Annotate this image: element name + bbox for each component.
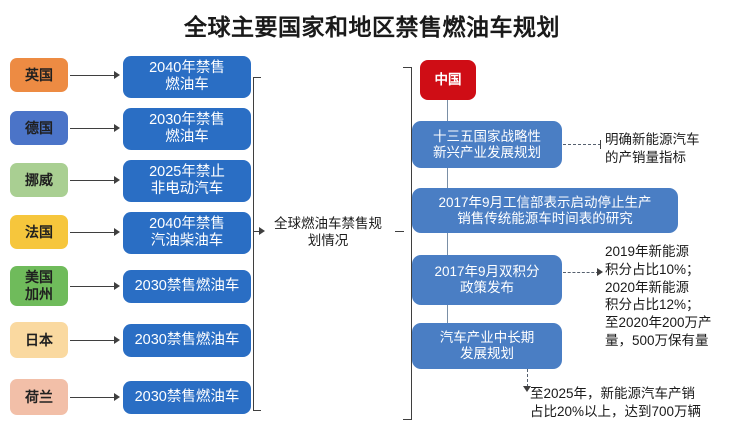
stem-policy2-to-policy3 [447,233,448,255]
dotted-connector-2-arrow [597,268,603,276]
arrow-head-germany [114,124,120,132]
plan-box-us-california[interactable]: 2030禁售燃油车 [123,270,251,303]
right-branch-bracket [403,67,412,420]
arrow-line-germany [70,128,116,129]
plan-box-netherlands[interactable]: 2030禁售燃油车 [123,381,251,414]
country-box-uk[interactable]: 英国 [10,58,68,92]
arrow-head-us-california [114,282,120,290]
country-box-france[interactable]: 法国 [10,215,68,249]
arrow-line-japan [70,340,116,341]
arrow-line-france [70,232,116,233]
arrow-line-us-california [70,286,116,287]
arrow-head-norway [114,176,120,184]
annotation-2: 2019年新能源 积分占比10%； 2020年新能源 积分占比12%； 至202… [605,243,744,350]
page-title: 全球主要国家和地区禁售燃油车规划 [0,8,744,42]
plan-box-uk[interactable]: 2040年禁售 燃油车 [123,56,251,98]
center-label: 全球燃油车禁售规 划情况 [263,216,393,250]
dotted-connector-2 [563,272,599,273]
arrow-head-netherlands [114,393,120,401]
arrow-line-uk [70,75,116,76]
policy-box-1[interactable]: 十三五国家战略性 新兴产业发展规划 [412,121,562,168]
annotation-3: 至2025年，新能源汽车产销 占比20%以上，达到700万辆 [530,385,744,421]
plan-box-germany[interactable]: 2030年禁售 燃油车 [123,108,251,150]
plan-box-norway[interactable]: 2025年禁止 非电动汽车 [123,160,251,202]
policy-box-3[interactable]: 2017年9月双积分 政策发布 [412,255,562,305]
arrow-head-france [114,228,120,236]
policy-box-4[interactable]: 汽车产业中长期 发展规划 [412,323,562,369]
country-box-us-california[interactable]: 美国 加州 [10,266,68,306]
dotted-connector-3 [527,369,528,387]
stem-china-to-policy1 [447,100,448,121]
country-box-netherlands[interactable]: 荷兰 [10,379,68,415]
arrow-line-norway [70,180,116,181]
stem-policy1-to-policy2 [447,168,448,188]
left-branch-bracket [253,77,261,411]
annotation-1: 明确新能源汽车 的产销量指标 [605,131,744,167]
stem-policy3-to-policy4 [447,305,448,323]
plan-box-france[interactable]: 2040年禁售 汽油柴油车 [123,212,251,254]
country-box-japan[interactable]: 日本 [10,322,68,358]
infographic-canvas: 全球主要国家和地区禁售燃油车规划 英国 德国 挪威 法国 美国 加州 日本 荷兰… [0,0,744,435]
country-box-germany[interactable]: 德国 [10,111,68,145]
arrow-line-netherlands [70,397,116,398]
country-box-china[interactable]: 中国 [420,60,476,100]
arrow-head-japan [114,336,120,344]
dotted-connector-1 [563,144,601,145]
plan-box-japan[interactable]: 2030禁售燃油车 [123,324,251,357]
dotted-connector-1-cap [600,140,601,149]
arrow-head-uk [114,71,120,79]
country-box-norway[interactable]: 挪威 [10,163,68,197]
policy-box-2[interactable]: 2017年9月工信部表示启动停止生产 销售传统能源车时间表的研究 [412,188,678,233]
